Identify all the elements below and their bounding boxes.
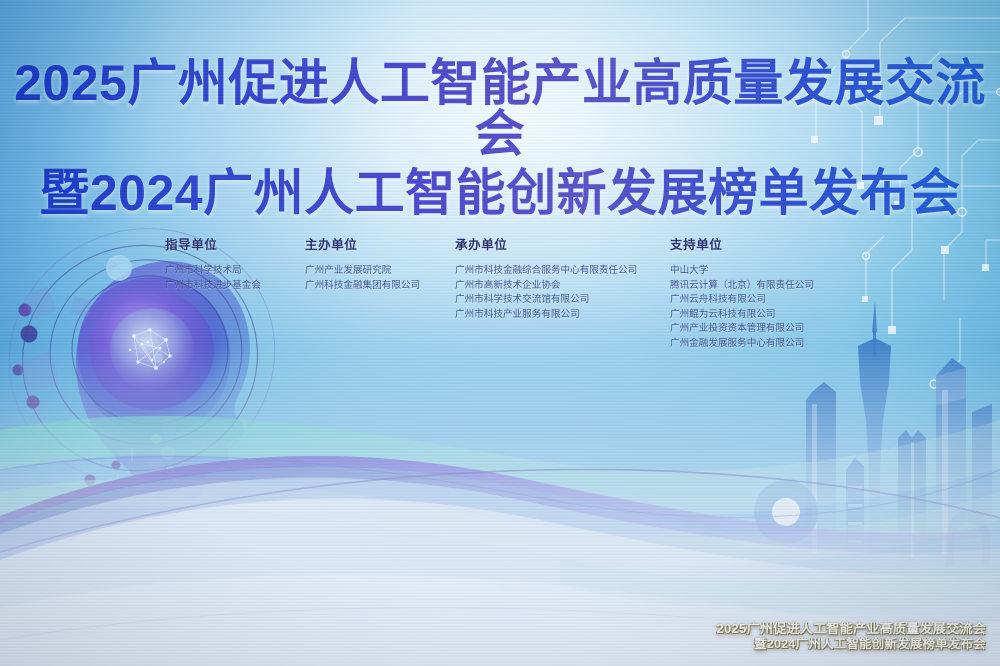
org-item: 广州市科学技术局 bbox=[165, 264, 305, 279]
org-item: 广州鲲为云科技有限公司 bbox=[670, 308, 860, 323]
bottom-light-wash bbox=[0, 346, 1000, 666]
org-item: 广州产业发展研究院 bbox=[305, 264, 455, 279]
title-line-2: 暨2024广州人工智能创新发展榜单发布会 bbox=[0, 166, 1000, 221]
org-column-host: 主办单位 广州产业发展研究院 广州科技金融集团有限公司 bbox=[305, 234, 455, 293]
watermark-line-1: 2025广州促进人工智能产业高质量发展交流会 bbox=[716, 621, 986, 637]
org-item: 广州云舟科技有限公司 bbox=[670, 293, 860, 308]
org-item: 广州市科技产业服务有限公司 bbox=[455, 308, 670, 323]
org-column-organizer: 承办单位 广州市科技金融综合服务中心有限责任公司 广州市高新技术企业协会 广州市… bbox=[455, 234, 670, 322]
watermark-line-2: 暨2024广州人工智能创新发展榜单发布会 bbox=[716, 637, 986, 652]
conference-backdrop: 2025广州促进人工智能产业高质量发展交流会 暨2024广州人工智能创新发展榜单… bbox=[0, 0, 1000, 666]
org-column-guidance: 指导单位 广州市科学技术局 广州市科技进步基金会 bbox=[165, 234, 305, 293]
org-item: 广州金融发展服务中心有限公司 bbox=[670, 337, 860, 352]
org-item: 广州产业投资资本管理有限公司 bbox=[670, 322, 860, 337]
corner-watermark: 2025广州促进人工智能产业高质量发展交流会 暨2024广州人工智能创新发展榜单… bbox=[716, 621, 986, 652]
org-heading: 指导单位 bbox=[165, 234, 305, 253]
page-title: 2025广州促进人工智能产业高质量发展交流会 暨2024广州人工智能创新发展榜单… bbox=[0, 56, 1000, 221]
org-item: 广州科技金融集团有限公司 bbox=[305, 279, 455, 294]
org-item: 广州市科技进步基金会 bbox=[165, 279, 305, 294]
org-item: 中山大学 bbox=[670, 264, 860, 279]
org-item: 广州市科技金融综合服务中心有限责任公司 bbox=[455, 264, 670, 279]
org-heading: 承办单位 bbox=[455, 234, 670, 253]
org-item: 广州市高新技术企业协会 bbox=[455, 279, 670, 294]
title-line-1: 2025广州促进人工智能产业高质量发展交流会 bbox=[0, 56, 1000, 162]
org-heading: 支持单位 bbox=[670, 234, 860, 253]
org-heading: 主办单位 bbox=[305, 234, 455, 253]
organization-columns: 指导单位 广州市科学技术局 广州市科技进步基金会 主办单位 广州产业发展研究院 … bbox=[165, 234, 865, 352]
org-item: 广州市科学技术交流馆有限公司 bbox=[455, 293, 670, 308]
org-column-supporter: 支持单位 中山大学 腾讯云计算（北京）有限责任公司 广州云舟科技有限公司 广州鲲… bbox=[670, 234, 860, 352]
org-item: 腾讯云计算（北京）有限责任公司 bbox=[670, 279, 860, 294]
